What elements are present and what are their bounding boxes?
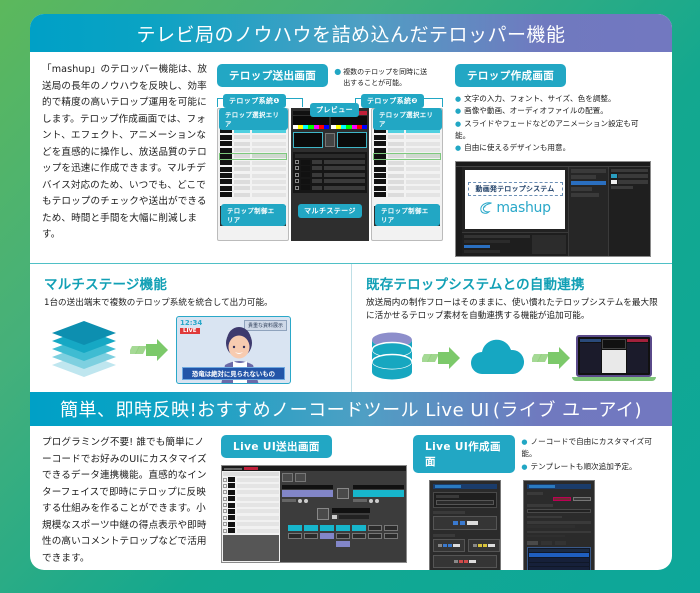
label-select-area-2: テロップ選択エリア <box>373 108 442 130</box>
liveui-create-screen-1 <box>429 480 501 570</box>
tv-preview: 12:34 LIVE 貴重な資料展示 恐竜は絶対に見られないもの <box>176 316 291 384</box>
list-thumb <box>374 135 386 140</box>
liveui-send-screenshot <box>221 465 407 563</box>
cloud-icon <box>466 336 528 380</box>
list-thumb <box>220 167 232 172</box>
bullet-item: 画像や動画、オーディオファイルの配置。 <box>455 105 650 117</box>
list-thumb <box>220 141 232 146</box>
list-thumb <box>374 148 386 153</box>
multistage-subtitle: 1台の送出端末で複数のテロップ系統を統合して出力可能。 <box>44 297 339 311</box>
list-thumb <box>220 154 232 159</box>
list-thumb <box>374 141 386 146</box>
section3-body: プログラミング不要! 誰でも簡単にノーコードでお好みのUIにカスタマイズできるデ… <box>30 426 672 570</box>
label-system-2: テロップ系統❷ <box>361 94 424 108</box>
list-thumb <box>374 160 386 165</box>
liveui-canvas[interactable] <box>280 471 406 562</box>
label-control-area-2: テロップ制御エリア <box>375 204 440 226</box>
list-thumb <box>374 192 386 197</box>
telop-send-pill: テロップ送出画面 <box>217 64 328 87</box>
section1-body-copy: 「mashup」のテロッパー機能は、放送局の長年のノウハウを反映し、効率的で精度… <box>42 62 209 244</box>
liveui-create-screen-2 <box>523 480 595 570</box>
liveui-button-grid[interactable] <box>282 525 404 547</box>
auto-link-title: 既存テロップシステムとの自動連携 <box>366 273 660 293</box>
tv-caption: 恐竜は絶対に見られないもの <box>182 367 285 380</box>
database-icon <box>366 330 418 386</box>
telop-create-block: テロップ作成画面 文字の入力、フォント、サイズ、色を調整。 画像や動画、オーディ… <box>445 62 650 257</box>
mashup-logo-text: mashup <box>496 200 550 216</box>
laptop-icon <box>576 335 652 381</box>
list-thumb <box>374 173 386 178</box>
label-preview: プレビュー <box>310 103 359 117</box>
multistage-list[interactable] <box>293 152 367 193</box>
label-control-area-1: テロップ制御エリア <box>221 204 286 226</box>
label-system-1: テロップ系統❶ <box>223 94 286 108</box>
arrow-right-icon <box>130 337 170 363</box>
section2: マルチステージ機能 1台の送出端末で複数のテロップ系統を統合して出力可能。 <box>30 263 672 393</box>
telop-list-1[interactable] <box>220 122 286 197</box>
canvas-title-text[interactable]: 動画発テロップシステム <box>468 182 563 196</box>
timeline-area[interactable] <box>462 232 568 256</box>
telop-create-pill: テロップ作成画面 <box>455 64 566 87</box>
list-thumb <box>220 192 232 197</box>
list-thumb <box>220 135 232 140</box>
section3-body-copy: プログラミング不要! 誰でも簡単にノーコードでお好みのUIにカスタマイズできるデ… <box>42 435 209 567</box>
section3-header-ruby: (ライブ ユーアイ) <box>493 396 642 422</box>
auto-link-subtitle: 放送局内の制作フローはそのままに、使い慣れたテロップシステムを最大限に活かせるテ… <box>366 297 660 325</box>
telop-create-bullets: 文字の入力、フォント、サイズ、色を調整。 画像や動画、オーディオファイルの配置。… <box>455 93 650 155</box>
bullet-item: テンプレートも順次追加予定。 <box>521 461 653 473</box>
telop-send-note: 複数のテロップを同時に送出することが可能。 <box>343 67 429 88</box>
section3-header: 簡単、即時反映!おすすめノーコードツール Live UI (ライブ ユーアイ) <box>30 392 672 426</box>
section1-header: テレビ局のノウハウを詰め込んだテロッパー機能 <box>30 14 672 52</box>
list-thumb <box>374 154 386 159</box>
arrow-right-icon <box>532 345 572 371</box>
telop-create-screenshot: 動画発テロップシステム mashup <box>455 161 651 257</box>
section3-header-title: 簡単、即時反映!おすすめノーコードツール Live UI <box>60 396 490 422</box>
bullet-item: 文字の入力、フォント、サイズ、色を調整。 <box>455 93 650 105</box>
poster-card: テレビ局のノウハウを詰め込んだテロッパー機能 「mashup」のテロッパー機能は… <box>30 14 672 570</box>
liveui-create-bullets: ノーコードで自由にカスタマイズ可能。 テンプレートも順次追加予定。 <box>521 435 653 473</box>
section1-body: 「mashup」のテロッパー機能は、放送局の長年のノウハウを反映し、効率的で精度… <box>30 52 672 263</box>
liveui-source-list[interactable] <box>222 471 280 562</box>
list-thumb <box>374 186 386 191</box>
liveui-send-block: Live UI送出画面 <box>217 435 407 570</box>
bullet-item: ノーコードで自由にカスタマイズ可能。 <box>521 436 653 461</box>
list-thumb <box>220 173 232 178</box>
liveui-create-pill: Live UI作成画面 <box>413 435 515 473</box>
liveui-create-block: Live UI作成画面 ノーコードで自由にカスタマイズ可能。 テンプレートも順次… <box>407 435 653 570</box>
list-thumb <box>220 186 232 191</box>
telop-send-block: テロップ送出画面 ● 複数のテロップを同時に送出することが可能。 テロップ系統❶… <box>217 62 445 257</box>
label-select-area-1: テロップ選択エリア <box>219 108 288 130</box>
list-thumb <box>374 167 386 172</box>
multistage-feature-panel: マルチステージ機能 1台の送出端末で複数のテロップ系統を統合して出力可能。 <box>30 264 352 393</box>
list-thumb <box>374 179 386 184</box>
arrow-right-icon <box>422 345 462 371</box>
list-thumb <box>220 179 232 184</box>
liveui-table[interactable] <box>527 547 591 570</box>
multistage-title: マルチステージ機能 <box>44 273 339 293</box>
bullet-item: スライドやフェードなどのアニメーション設定も可能。 <box>455 118 650 143</box>
mashup-leaf-icon <box>479 201 494 215</box>
canvas-area[interactable]: 動画発テロップシステム mashup <box>465 170 565 229</box>
multistage-panel: マルチステージ <box>291 108 369 241</box>
section3-text-column: プログラミング不要! 誰でも簡単にノーコードでお好みのUIにカスタマイズできるデ… <box>42 435 217 570</box>
telop-list-2[interactable] <box>374 122 440 197</box>
stacked-layers-icon <box>44 319 124 381</box>
auto-link-feature-panel: 既存テロップシステムとの自動連携 放送局内の制作フローはそのままに、使い慣れたテ… <box>352 264 672 393</box>
note-bullet-icon: ● <box>334 67 341 88</box>
section1-text-column: 「mashup」のテロッパー機能は、放送局の長年のノウハウを反映し、効率的で精度… <box>42 62 217 257</box>
bullet-item: 自由に使えるデザインも用意。 <box>455 142 650 154</box>
section1-header-title: テレビ局のノウハウを詰め込んだテロッパー機能 <box>136 20 565 47</box>
list-thumb <box>220 148 232 153</box>
list-thumb <box>220 160 232 165</box>
label-multistage: マルチステージ <box>298 204 362 218</box>
liveui-send-pill: Live UI送出画面 <box>221 435 332 458</box>
